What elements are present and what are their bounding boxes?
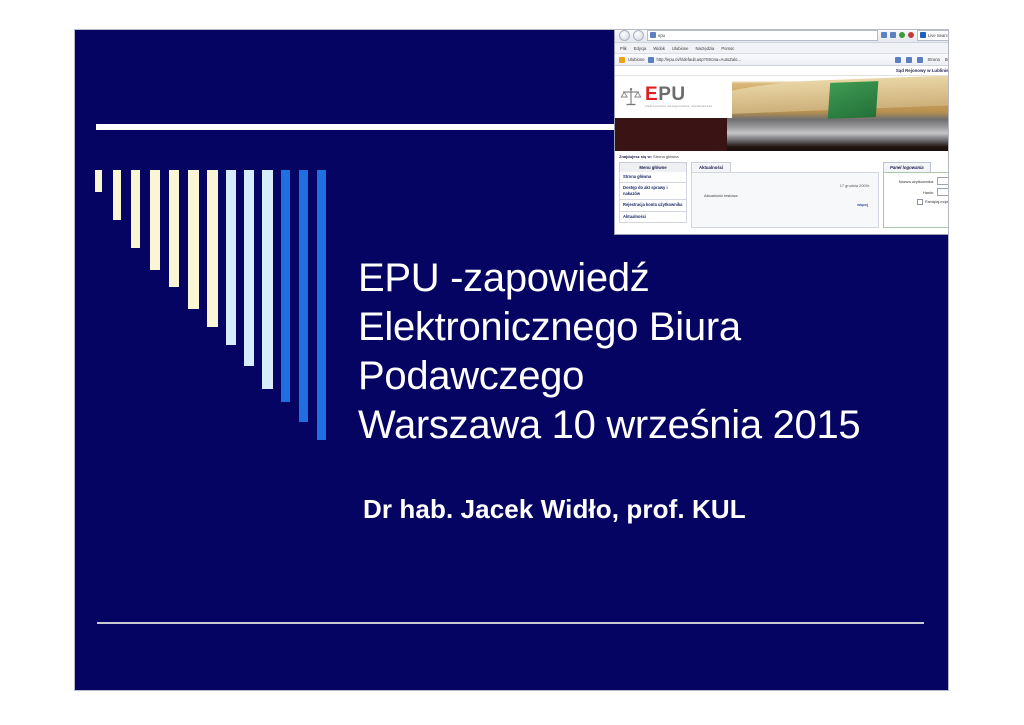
decor-bar-13	[317, 170, 326, 440]
news-more-link[interactable]: więcej	[857, 203, 868, 207]
bookmark-page-icon	[648, 57, 654, 63]
browser-navigation-bar: epu Live Search	[615, 30, 948, 43]
epu-wordmark: EPU elektroniczne postępowanie upominawc…	[645, 85, 712, 108]
breadcrumb-label: Znajdujesz się w:	[619, 154, 652, 159]
logo-dark-block	[615, 118, 727, 151]
title-line-2: Elektronicznego Biura	[358, 303, 938, 352]
main-menu-header: Menu główne	[619, 162, 687, 172]
decor-bar-4	[150, 170, 160, 270]
banner-green-envelope	[828, 81, 879, 119]
dropdown-icon[interactable]	[881, 32, 887, 38]
menu-item-widok[interactable]: Widok	[653, 46, 665, 51]
search-placeholder: Live Search	[928, 33, 948, 38]
login-panel: Panel logowania Nazwa użytkownika: Hasło…	[883, 162, 948, 228]
news-panel: Aktualności 17 grudnia 2009r. Aktualność…	[691, 162, 879, 228]
title-line-4: Warszawa 10 września 2015	[358, 401, 938, 450]
decor-bar-11	[281, 170, 290, 402]
decor-bar-6	[188, 170, 199, 309]
search-icon	[920, 32, 926, 38]
news-box: 17 grudnia 2009r. Aktualność testowa wię…	[691, 172, 879, 228]
toolbar-strona[interactable]: Strona	[928, 57, 940, 62]
decorative-bar-graphic	[95, 170, 345, 440]
password-label: Hasło:	[923, 190, 934, 195]
menu-link-aktualnosci[interactable]: Aktualności	[619, 212, 687, 223]
feed-icon[interactable]	[906, 57, 912, 63]
bookmarks-label[interactable]: Ulubione	[628, 57, 645, 62]
menu-item-pomoc[interactable]: Pomoc	[721, 46, 734, 51]
breadcrumb: Znajdujesz się w: Strona główna	[619, 154, 948, 159]
stop-icon[interactable]	[908, 32, 914, 38]
top-divider-rule	[96, 124, 628, 130]
site-banner: EPU elektroniczne postępowanie upominawc…	[615, 76, 948, 151]
login-form: Nazwa użytkownika: Hasło: Pamiętaj moje …	[883, 172, 948, 228]
epu-tagline: elektroniczne postępowanie upominawcze	[645, 105, 712, 108]
menu-link-strona-glowna[interactable]: Strona główna	[619, 172, 687, 183]
decor-bar-5	[169, 170, 179, 287]
site-content-area: Znajdujesz się w: Strona główna Menu głó…	[615, 151, 948, 234]
epu-letters-pu: PU	[658, 84, 685, 105]
decor-bar-2	[113, 170, 121, 220]
page-title: EPU -zapowiedź Elektronicznego Biura Pod…	[358, 254, 938, 450]
decor-bar-8	[226, 170, 236, 345]
menu-link-dostep-do-akt[interactable]: Dostęp do akt sprawy i nakazów	[619, 183, 687, 200]
epu-letter-e: E	[645, 84, 658, 105]
decor-bar-12	[299, 170, 308, 422]
back-icon[interactable]	[619, 30, 630, 41]
decor-bar-7	[207, 170, 218, 327]
menu-item-ulubione[interactable]: Ulubione	[672, 46, 689, 51]
bookmark-item[interactable]: http://epu.ovh/default.asp?Strona=AutoZa…	[657, 57, 741, 62]
menu-link-rejestracja-konta[interactable]: Rejestracja konta użytkownika	[619, 200, 687, 211]
epu-logo[interactable]: EPU elektroniczne postępowanie upominawc…	[615, 76, 732, 118]
embedded-browser-screenshot: epu Live Search Plik Edycja Widok Ulubio…	[615, 30, 948, 234]
menu-item-plik[interactable]: Plik	[620, 46, 627, 51]
breadcrumb-value: Strona główna	[653, 154, 679, 159]
main-menu-panel: Menu główne Strona główna Dostęp do akt …	[619, 162, 687, 223]
address-bar-value: epu	[658, 33, 665, 38]
news-date: 17 grudnia 2009r.	[840, 183, 870, 188]
decor-bar-9	[244, 170, 254, 366]
menu-item-edycja[interactable]: Edycja	[634, 46, 647, 51]
site-institution-bar: Sąd Rejonowy w Lublinie | Ministerstwo S…	[615, 66, 948, 76]
username-label: Nazwa użytkownika:	[899, 179, 934, 184]
username-row: Nazwa użytkownika:	[887, 177, 948, 185]
remember-row[interactable]: Pamiętaj moje dane.	[917, 199, 948, 205]
forward-icon[interactable]	[633, 30, 644, 41]
tab-panel-logowania: Panel logowania	[883, 162, 931, 172]
presenter-subtitle: Dr hab. Jacek Widło, prof. KUL	[363, 494, 746, 525]
browser-bookmarks-bar: Ulubione http://epu.ovh/default.asp?Stro…	[615, 54, 948, 66]
username-field[interactable]	[937, 177, 948, 185]
remember-label: Pamiętaj moje dane.	[925, 200, 948, 204]
scales-of-justice-icon	[620, 86, 642, 108]
toolbar-bezpieczenstwo[interactable]: Bezpieczeństwo	[945, 57, 948, 62]
home-icon[interactable]	[895, 57, 901, 63]
go-icon[interactable]	[899, 32, 905, 38]
decor-bar-1	[95, 170, 102, 192]
password-field[interactable]	[937, 188, 948, 196]
refresh-icon[interactable]	[890, 32, 896, 38]
page-icon	[650, 32, 656, 38]
decor-bar-10	[262, 170, 273, 389]
address-bar[interactable]: epu	[647, 30, 878, 41]
favorites-star-icon[interactable]	[619, 57, 625, 63]
title-line-3: Podawczego	[358, 352, 938, 401]
menu-item-narzedzia[interactable]: Narzędzia	[696, 46, 715, 51]
search-input[interactable]: Live Search	[917, 30, 948, 41]
bottom-divider-rule	[97, 622, 924, 624]
browser-menu-bar: Plik Edycja Widok Ulubione Narzędzia Pom…	[615, 43, 948, 54]
news-text: Aktualność testowa	[704, 193, 738, 198]
tab-aktualnosci[interactable]: Aktualności	[691, 162, 731, 172]
presentation-slide: EPU -zapowiedź Elektronicznego Biura Pod…	[75, 30, 948, 690]
remember-checkbox[interactable]	[917, 199, 923, 205]
password-row: Hasło:	[887, 188, 948, 196]
decor-bar-3	[131, 170, 140, 248]
print-icon[interactable]	[917, 57, 923, 63]
title-line-1: EPU -zapowiedź	[358, 254, 938, 303]
